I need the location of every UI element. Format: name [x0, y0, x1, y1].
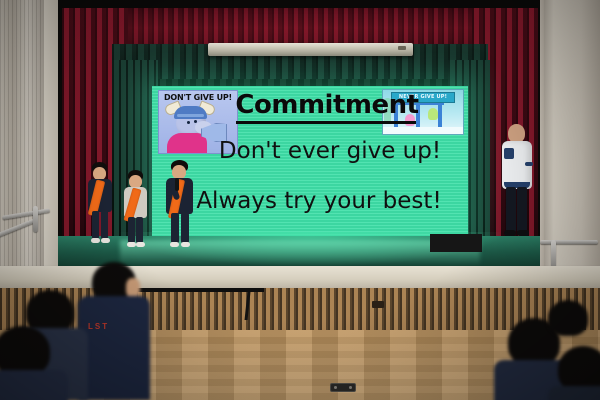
slide-title-underline	[236, 121, 416, 124]
bull-eye-left	[187, 121, 190, 124]
slide-title: Commitment	[234, 90, 420, 120]
microphone-icon	[175, 178, 179, 191]
student-leg-right	[181, 213, 189, 243]
bull-eye-right	[194, 120, 197, 123]
student-shoe-left	[127, 242, 136, 247]
projector-screen-housing	[208, 43, 413, 56]
presenter-shoe-left	[504, 230, 516, 236]
clipart-caption-left: DON'T GIVE UP!	[159, 93, 237, 102]
foreground-head	[548, 300, 588, 336]
student-leg-right	[101, 211, 108, 239]
presenter-logo	[504, 148, 514, 159]
student-shoe-left	[170, 242, 179, 247]
foreground-body	[0, 370, 68, 400]
stage-table-right	[430, 234, 482, 252]
stair-handrail-right	[540, 240, 598, 244]
student-leg-left	[171, 213, 179, 243]
foreground-jacket	[78, 296, 150, 400]
jacket-text-lst: LST	[88, 322, 109, 331]
auditorium-photo: DON'T GIVE UP! NEVER GIVE UP! Commitment…	[0, 0, 600, 400]
presentation-slide: DON'T GIVE UP! NEVER GIVE UP! Commitment…	[152, 86, 468, 238]
presenter-leg-left	[506, 187, 516, 232]
student-shoe-right	[101, 238, 110, 243]
stage-front-edge	[0, 266, 600, 290]
student-head	[172, 165, 186, 179]
student-shoe-left	[91, 238, 100, 243]
student-leg-left	[128, 217, 135, 243]
student-leg-right	[136, 217, 143, 243]
student-leg-left	[92, 211, 99, 239]
game-ground	[383, 127, 463, 134]
slide-line-2: Always try your best!	[176, 188, 462, 214]
foreground-body	[548, 386, 600, 400]
floor-socket-plate	[330, 383, 356, 392]
student-shoe-right	[136, 242, 145, 247]
slide-line-1: Don't ever give up!	[192, 138, 468, 164]
presenter-shoe-right	[517, 230, 529, 236]
game-post-3	[438, 101, 442, 129]
student-shoe-right	[181, 242, 190, 247]
presenter-sleeve-stripe	[525, 162, 533, 166]
foreground-face	[126, 278, 140, 298]
apron-outlet	[372, 301, 384, 308]
game-character-green	[428, 108, 438, 120]
presenter-leg-right	[517, 187, 527, 232]
stair-handrail-left-post	[33, 206, 38, 232]
bull-helmet	[174, 106, 207, 119]
foreground-head	[0, 326, 50, 376]
